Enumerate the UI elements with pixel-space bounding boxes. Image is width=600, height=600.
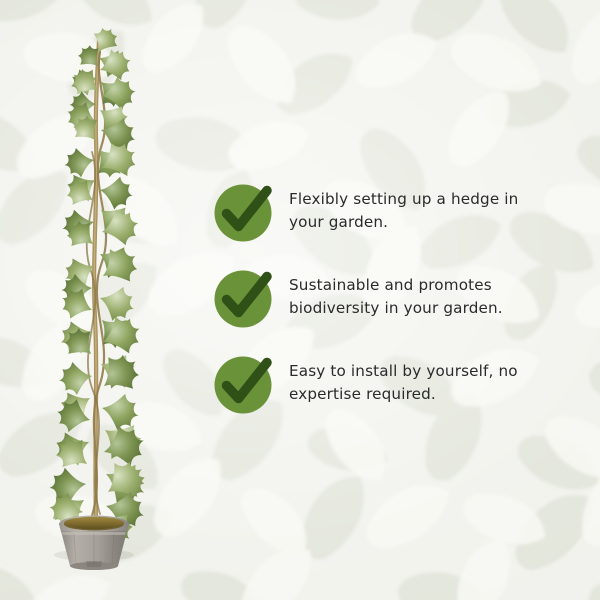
benefits-list: Flexibly setting up a hedge in your gard…	[215, 185, 545, 443]
product-feature-card: Flexibly setting up a hedge in your gard…	[0, 0, 600, 600]
benefit-text: Easy to install by yourself, no expertis…	[289, 357, 518, 406]
check-circle-icon	[215, 271, 272, 328]
benefit-item-biodiversity: Sustainable and promotes biodiversity in…	[215, 271, 545, 357]
benefit-text: Flexibly setting up a hedge in your gard…	[289, 185, 518, 234]
grey-nursery-pot	[59, 516, 129, 571]
benefit-item-hedge: Flexibly setting up a hedge in your gard…	[215, 185, 545, 271]
check-circle-icon	[215, 185, 272, 242]
ivy-foliage	[44, 22, 153, 552]
benefit-item-install: Easy to install by yourself, no expertis…	[215, 357, 545, 443]
check-circle-svg	[213, 265, 279, 331]
benefit-text: Sustainable and promotes biodiversity in…	[289, 271, 503, 320]
check-circle-svg	[213, 351, 279, 417]
climbing-ivy-plant	[28, 18, 188, 578]
check-circle-icon	[215, 357, 272, 414]
ivy-plant-illustration	[28, 18, 188, 578]
check-circle-svg	[213, 179, 279, 245]
